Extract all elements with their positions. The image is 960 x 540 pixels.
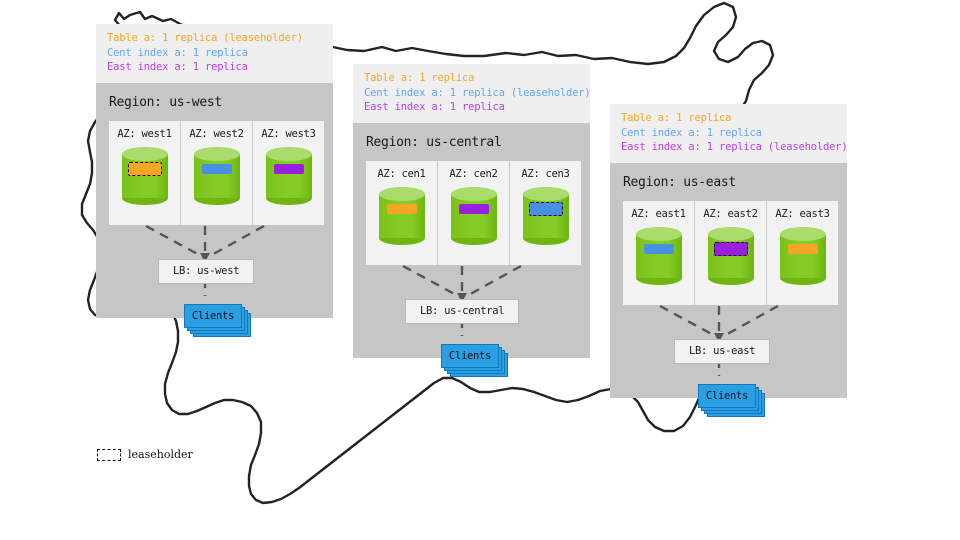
az-cell-east1[interactable]: AZ: east1 xyxy=(623,201,695,305)
legend-line-table-a: Table a: 1 replica xyxy=(621,111,836,126)
diagram-canvas: Table a: 1 replica (leaseholder) Cent in… xyxy=(0,0,960,540)
db-cylinder-cen2[interactable] xyxy=(451,187,497,245)
region-title-us-east: Region: us-east xyxy=(623,175,836,190)
clients-box-us-east[interactable]: Clients xyxy=(698,384,756,408)
region-legend-us-central: Table a: 1 replica Cent index a: 1 repli… xyxy=(353,64,590,123)
db-cylinder-west2[interactable] xyxy=(194,147,240,205)
replica-block-east-index-a[interactable] xyxy=(459,204,489,214)
az-cell-cen3[interactable]: AZ: cen3 xyxy=(510,161,581,265)
region-body-us-central: Region: us-central AZ: cen1 AZ: cen2 xyxy=(353,123,590,358)
az-label-cen1: AZ: cen1 xyxy=(377,168,425,180)
clients-stack-us-east[interactable]: Clients xyxy=(698,384,768,418)
cylinder-top xyxy=(451,187,497,201)
lb-label-us-east: LB: us-east xyxy=(689,345,755,357)
clients-label-us-east: Clients xyxy=(706,390,748,402)
region-panel-us-central[interactable]: Table a: 1 replica Cent index a: 1 repli… xyxy=(353,64,590,358)
db-cylinder-west3[interactable] xyxy=(266,147,312,205)
cylinder-top xyxy=(379,187,425,201)
az-strip-us-east: AZ: east1 AZ: east2 xyxy=(623,201,838,305)
db-cylinder-east1[interactable] xyxy=(636,227,682,285)
region-body-us-east: Region: us-east AZ: east1 AZ: east2 xyxy=(610,163,847,398)
cylinder-top xyxy=(523,187,569,201)
connector-cen3-to-lb xyxy=(465,266,521,297)
az-cell-west3[interactable]: AZ: west3 xyxy=(253,121,324,225)
clients-stack-us-central[interactable]: Clients xyxy=(441,344,511,378)
az-cell-cen1[interactable]: AZ: cen1 xyxy=(366,161,438,265)
replica-block-cent-index-a[interactable] xyxy=(529,202,563,216)
az-label-cen3: AZ: cen3 xyxy=(521,168,569,180)
cylinder-top xyxy=(636,227,682,241)
region-title-us-west: Region: us-west xyxy=(109,95,322,110)
az-label-west2: AZ: west2 xyxy=(189,128,243,140)
cylinder-top xyxy=(194,147,240,161)
region-legend-us-east: Table a: 1 replica Cent index a: 1 repli… xyxy=(610,104,847,163)
legend-line-table-a: Table a: 1 replica xyxy=(364,71,579,86)
connector-cen1-to-lb xyxy=(403,266,460,297)
load-balancer-us-central[interactable]: LB: us-central xyxy=(405,299,519,324)
connector-west3-to-lb xyxy=(208,226,264,257)
replica-block-table-a[interactable] xyxy=(128,162,162,176)
az-label-east3: AZ: east3 xyxy=(775,208,829,220)
load-balancer-us-west[interactable]: LB: us-west xyxy=(158,259,254,284)
db-cylinder-east3[interactable] xyxy=(780,227,826,285)
cylinder-top xyxy=(780,227,826,241)
clients-box-us-west[interactable]: Clients xyxy=(184,304,242,328)
az-cell-west2[interactable]: AZ: west2 xyxy=(181,121,253,225)
legend-line-cent-index-a: Cent index a: 1 replica xyxy=(107,46,322,61)
region-legend-us-west: Table a: 1 replica (leaseholder) Cent in… xyxy=(96,24,333,83)
clients-stack-us-west[interactable]: Clients xyxy=(184,304,254,338)
leaseholder-legend-label: leaseholder xyxy=(128,448,193,461)
az-cell-east2[interactable]: AZ: east2 xyxy=(695,201,767,305)
az-strip-us-west: AZ: west1 AZ: west2 xyxy=(109,121,324,225)
clients-label-us-west: Clients xyxy=(192,310,234,322)
legend-line-east-index-a: East index a: 1 replica xyxy=(107,60,322,75)
region-panel-us-east[interactable]: Table a: 1 replica Cent index a: 1 repli… xyxy=(610,104,847,398)
az-cell-cen2[interactable]: AZ: cen2 xyxy=(438,161,510,265)
clients-box-us-central[interactable]: Clients xyxy=(441,344,499,368)
leaseholder-swatch-icon xyxy=(97,449,121,461)
replica-block-table-a[interactable] xyxy=(788,244,818,254)
legend-line-table-a: Table a: 1 replica (leaseholder) xyxy=(107,31,322,46)
db-cylinder-east2[interactable] xyxy=(708,227,754,285)
region-title-us-central: Region: us-central xyxy=(366,135,579,150)
connector-east1-to-lb xyxy=(660,306,717,337)
az-strip-us-central: AZ: cen1 AZ: cen2 xyxy=(366,161,581,265)
az-label-west1: AZ: west1 xyxy=(117,128,171,140)
az-label-cen2: AZ: cen2 xyxy=(449,168,497,180)
region-body-us-west: Region: us-west AZ: west1 AZ: west2 xyxy=(96,83,333,318)
connector-east3-to-lb xyxy=(722,306,778,337)
lb-label-us-west: LB: us-west xyxy=(173,265,239,277)
replica-block-table-a[interactable] xyxy=(387,204,417,214)
legend-line-cent-index-a: Cent index a: 1 replica xyxy=(621,126,836,141)
replica-block-cent-index-a[interactable] xyxy=(202,164,232,174)
legend-line-cent-index-a: Cent index a: 1 replica (leaseholder) xyxy=(364,86,579,101)
region-panel-us-west[interactable]: Table a: 1 replica (leaseholder) Cent in… xyxy=(96,24,333,318)
legend-line-east-index-a: East index a: 1 replica (leaseholder) xyxy=(621,140,836,155)
az-cell-east3[interactable]: AZ: east3 xyxy=(767,201,838,305)
az-label-west3: AZ: west3 xyxy=(261,128,315,140)
cylinder-top xyxy=(708,227,754,241)
db-cylinder-cen1[interactable] xyxy=(379,187,425,245)
cylinder-top xyxy=(266,147,312,161)
az-label-east1: AZ: east1 xyxy=(631,208,685,220)
leaseholder-legend: leaseholder xyxy=(97,448,193,461)
load-balancer-us-east[interactable]: LB: us-east xyxy=(674,339,770,364)
replica-block-east-index-a[interactable] xyxy=(274,164,304,174)
replica-block-east-index-a[interactable] xyxy=(714,242,748,256)
cylinder-top xyxy=(122,147,168,161)
clients-label-us-central: Clients xyxy=(449,350,491,362)
connector-west1-to-lb xyxy=(146,226,203,257)
replica-block-cent-index-a[interactable] xyxy=(644,244,674,254)
db-cylinder-cen3[interactable] xyxy=(523,187,569,245)
lb-label-us-central: LB: us-central xyxy=(420,305,504,317)
az-label-east2: AZ: east2 xyxy=(703,208,757,220)
legend-line-east-index-a: East index a: 1 replica xyxy=(364,100,579,115)
az-cell-west1[interactable]: AZ: west1 xyxy=(109,121,181,225)
db-cylinder-west1[interactable] xyxy=(122,147,168,205)
